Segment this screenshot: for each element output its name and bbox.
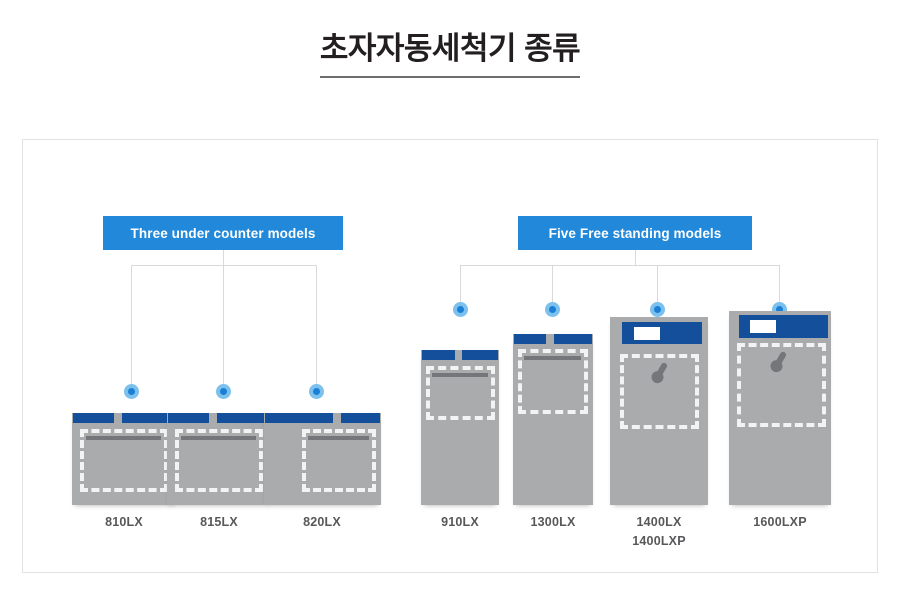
rack-rail bbox=[181, 436, 256, 440]
machine-1400lx[interactable] bbox=[610, 317, 708, 505]
node-dot-icon-810lx[interactable] bbox=[124, 384, 139, 399]
rack-rail bbox=[432, 373, 488, 377]
display-panel-icon bbox=[634, 327, 660, 340]
machine-820lx[interactable] bbox=[264, 413, 381, 505]
page-title: 초자자동세척기 종류 bbox=[320, 30, 580, 78]
topbar-right bbox=[554, 334, 592, 344]
connector-stem-left bbox=[223, 250, 224, 266]
caption-910lx: 910LX bbox=[410, 513, 510, 532]
rack-rail bbox=[308, 436, 369, 440]
connector-bar-right bbox=[460, 265, 779, 266]
topbar-left bbox=[168, 413, 209, 423]
connector-drop-810lx bbox=[131, 265, 132, 386]
display-panel-icon bbox=[750, 320, 776, 333]
group-label-under-counter[interactable]: Three under counter models bbox=[103, 216, 343, 250]
rack-rail bbox=[86, 436, 161, 440]
diagram-page: 초자자동세척기 종류 Three under counter models Fi… bbox=[0, 0, 900, 591]
topbar-left bbox=[73, 413, 114, 423]
connector-drop-815lx bbox=[223, 265, 224, 386]
machine-1600lxp[interactable] bbox=[729, 311, 831, 505]
caption-810lx: 810LX bbox=[74, 513, 174, 532]
node-dot-icon-820lx[interactable] bbox=[309, 384, 324, 399]
connector-drop-1300lx bbox=[552, 265, 553, 305]
connector-drop-1600lxp bbox=[779, 265, 780, 305]
machine-1300lx[interactable] bbox=[513, 334, 593, 505]
caption-820lx: 820LX bbox=[272, 513, 372, 532]
topbar-left bbox=[265, 413, 333, 423]
caption-1400lx: 1400LX 1400LXP bbox=[609, 513, 709, 551]
topbar-left bbox=[422, 350, 455, 360]
machine-815lx[interactable] bbox=[167, 413, 271, 505]
topbar-left bbox=[514, 334, 546, 344]
caption-1600lxp: 1600LXP bbox=[730, 513, 830, 532]
machine-910lx[interactable] bbox=[421, 350, 499, 505]
node-dot-icon-1300lx[interactable] bbox=[545, 302, 560, 317]
page-title-wrap: 초자자동세척기 종류 bbox=[0, 30, 900, 78]
topbar-right bbox=[217, 413, 270, 423]
topbar-right bbox=[462, 350, 498, 360]
connector-drop-1400lx bbox=[657, 265, 658, 305]
node-dot-icon-910lx[interactable] bbox=[453, 302, 468, 317]
topbar-right bbox=[341, 413, 380, 423]
rack-rail bbox=[524, 356, 581, 360]
caption-815lx: 815LX bbox=[169, 513, 269, 532]
connector-drop-910lx bbox=[460, 265, 461, 305]
node-dot-icon-1400lx[interactable] bbox=[650, 302, 665, 317]
connector-stem-right bbox=[635, 250, 636, 266]
connector-drop-820lx bbox=[316, 265, 317, 386]
group-label-free-standing[interactable]: Five Free standing models bbox=[518, 216, 752, 250]
node-dot-icon-815lx[interactable] bbox=[216, 384, 231, 399]
caption-1300lx: 1300LX bbox=[503, 513, 603, 532]
machine-810lx[interactable] bbox=[72, 413, 176, 505]
